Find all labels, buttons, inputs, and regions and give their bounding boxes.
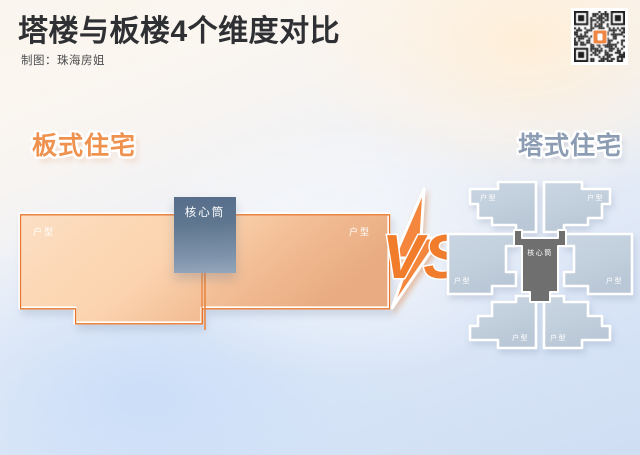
tower-building-floorplan: 核心筒 户型 户型 户型 户型 户型 户型: [440, 168, 640, 368]
slab-core-block: 核心筒: [174, 197, 236, 273]
tower-core-block: [514, 230, 566, 302]
qr-code[interactable]: [571, 8, 628, 65]
tower-core-label: 核心筒: [527, 248, 553, 257]
tower-unit-shape: [544, 182, 610, 232]
page-title: 塔楼与板楼4个维度对比: [18, 6, 340, 50]
slab-core-label: 核心筒: [174, 204, 236, 220]
tower-unit-shape: [448, 234, 516, 294]
poster-root: 塔楼与板楼4个维度对比 制图：珠海房姐 板式住宅 塔式住宅: [0, 0, 640, 455]
heading-tower-housing: 塔式住宅: [518, 126, 622, 162]
qr-center-logo: [592, 29, 607, 44]
heading-slab-housing: 板式住宅: [32, 126, 136, 162]
page-subtitle: 制图：珠海房姐: [21, 52, 105, 68]
tower-unit-label: 户型: [454, 276, 471, 285]
tower-unit-label: 户型: [512, 333, 529, 342]
tower-unit-label: 户型: [480, 193, 497, 202]
tower-unit-label: 户型: [606, 276, 623, 285]
tower-unit-shape: [470, 182, 536, 232]
tower-unit-label: 户型: [587, 193, 604, 202]
tower-unit-shape: [564, 234, 632, 294]
header: 塔楼与板楼4个维度对比 制图：珠海房姐: [0, 0, 640, 92]
tower-unit-label: 户型: [550, 333, 567, 342]
slab-unit-label: 户型: [33, 226, 55, 237]
